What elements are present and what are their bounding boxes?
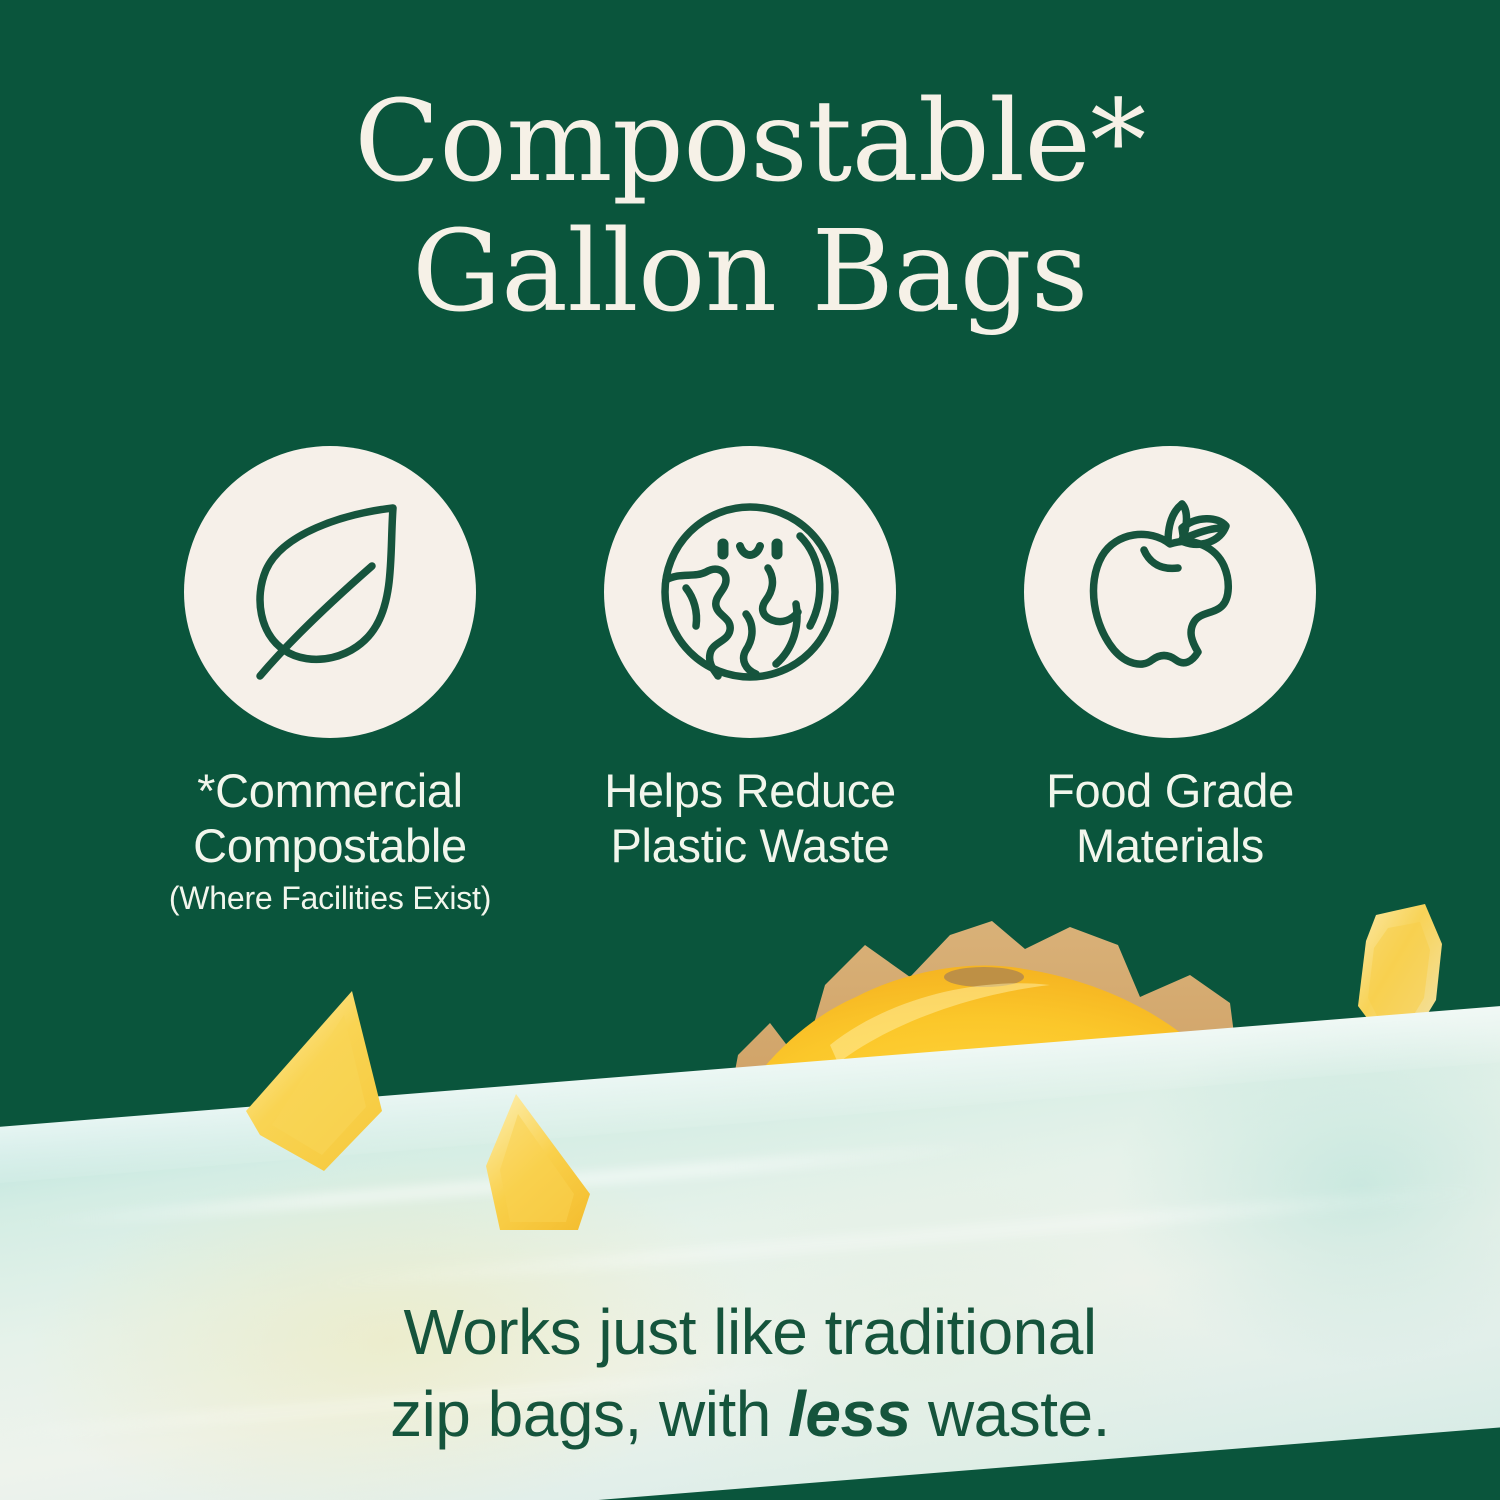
feature-sublabel: (Where Facilities Exist)	[169, 879, 491, 917]
product-marketing-banner: Compostable* Gallon Bags	[0, 0, 1500, 1500]
leaf-icon	[230, 492, 430, 692]
smiling-globe-icon	[650, 492, 850, 692]
feature-label: Food Grade Materials	[1046, 764, 1294, 873]
globe-badge	[604, 446, 896, 738]
tagline-part2: waste.	[911, 1378, 1110, 1450]
page-title: Compostable* Gallon Bags	[0, 78, 1500, 338]
feature-label: *Commercial Compostable	[193, 764, 467, 873]
leaf-badge	[184, 446, 476, 738]
feature-label: Helps Reduce Plastic Waste	[604, 764, 896, 873]
feature-reduce-plastic-waste: Helps Reduce Plastic Waste	[570, 446, 930, 879]
tagline: Works just like traditional zip bags, wi…	[0, 1292, 1500, 1456]
apple-badge	[1024, 446, 1316, 738]
feature-food-grade-materials: Food Grade Materials	[990, 446, 1350, 879]
feature-row: *Commercial Compostable (Where Facilitie…	[150, 446, 1350, 917]
pineapple-chunk-left	[232, 985, 412, 1185]
feature-commercial-compostable: *Commercial Compostable (Where Facilitie…	[150, 446, 510, 917]
pineapple-chunk-mid	[470, 1090, 610, 1240]
tagline-emphasis: less	[788, 1378, 911, 1450]
bitten-apple-icon	[1070, 492, 1270, 692]
